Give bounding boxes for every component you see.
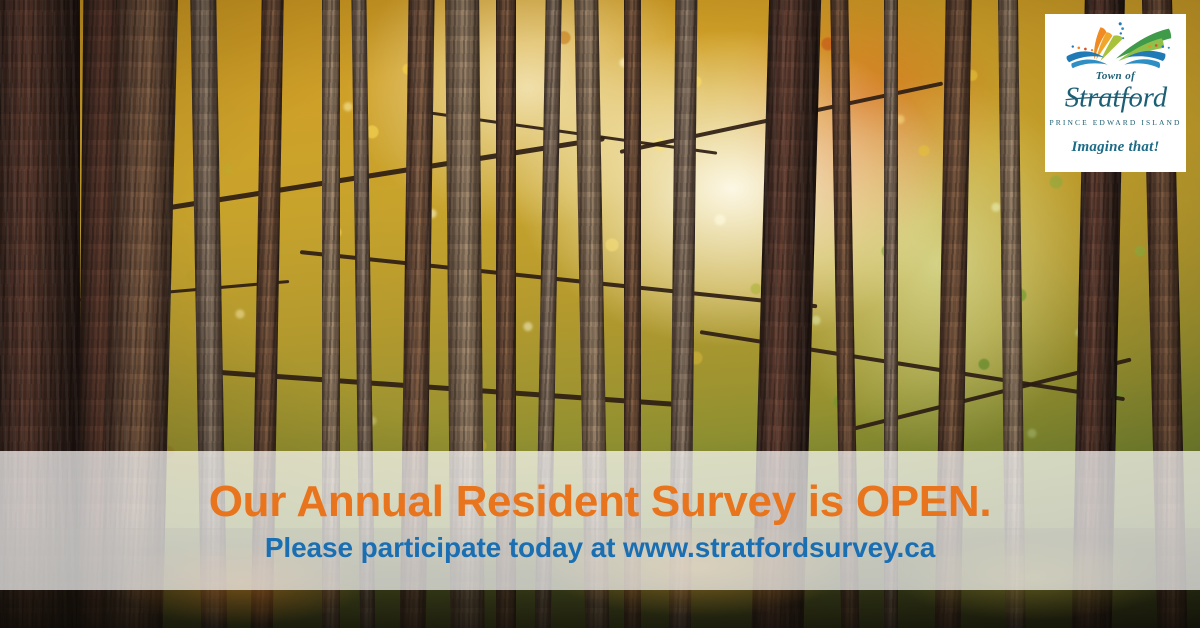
survey-promo-poster: Our Annual Resident Survey is OPEN. Plea… — [0, 0, 1200, 628]
banner-headline: Our Annual Resident Survey is OPEN. — [209, 480, 992, 526]
banner-subline: Please participate today at www.stratfor… — [265, 528, 935, 562]
logo-province: PRINCE EDWARD ISLAND — [1050, 118, 1182, 127]
stratford-leaf-swoosh-icon — [1056, 20, 1176, 72]
message-banner: Our Annual Resident Survey is OPEN. Plea… — [0, 451, 1200, 590]
stratford-logo[interactable]: Town of Stratford PRINCE EDWARD ISLAND I… — [1045, 14, 1186, 172]
stratford-wordmark-icon: Stratford — [1053, 79, 1179, 117]
logo-tagline: Imagine that! — [1071, 139, 1159, 156]
